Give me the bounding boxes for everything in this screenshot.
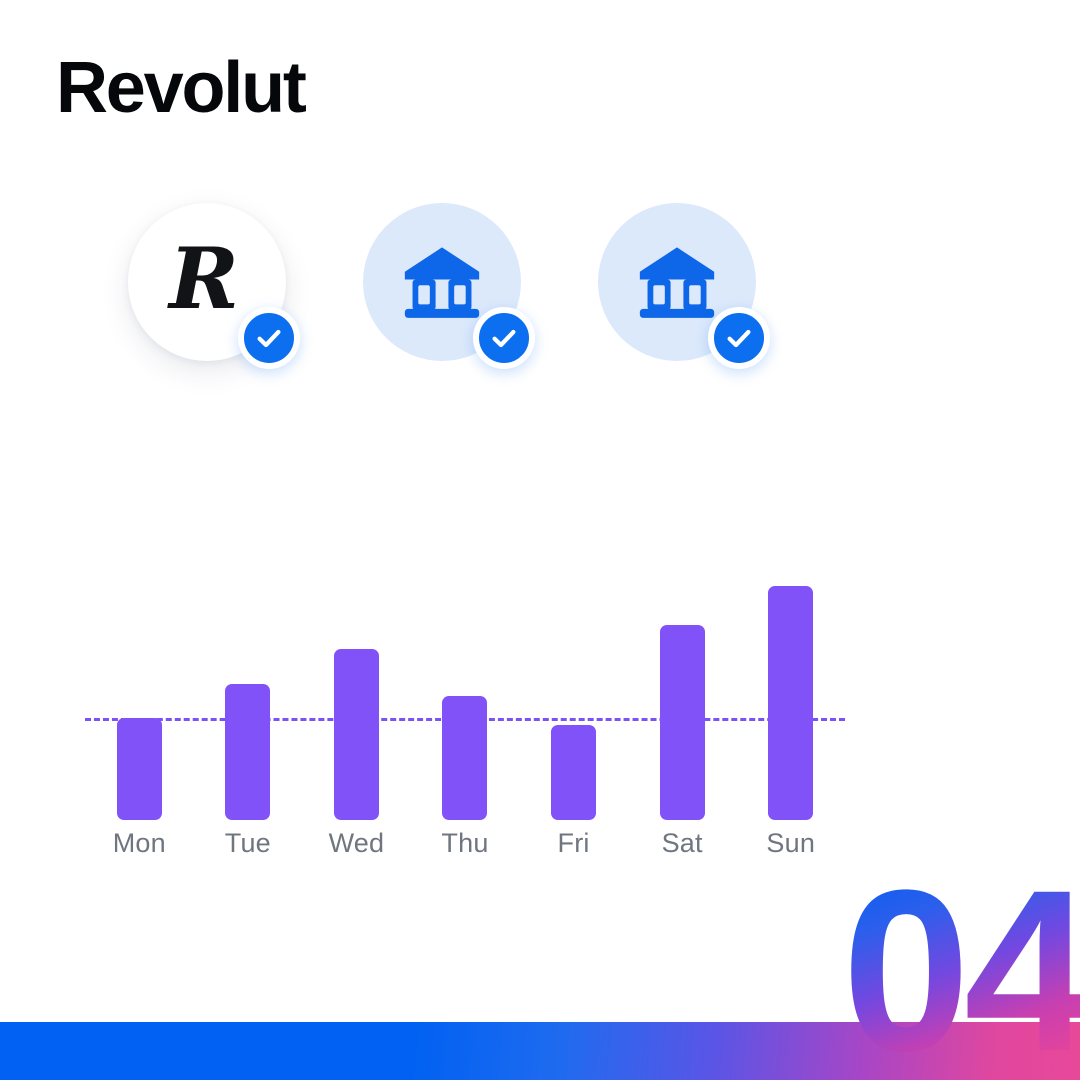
brand-wordmark: Revolut	[56, 52, 305, 124]
chart-bar-slot	[194, 552, 303, 820]
chart-x-label: Sat	[628, 828, 737, 859]
chart-bar[interactable]	[334, 649, 379, 820]
verified-badge	[238, 307, 300, 369]
verified-accounts-group: R	[128, 203, 828, 403]
promo-canvas: Revolut R	[0, 0, 1080, 1080]
bank-icon	[401, 241, 483, 323]
chart-bar[interactable]	[768, 586, 813, 820]
chart-bar[interactable]	[225, 684, 270, 820]
revolut-r-icon: R	[169, 237, 239, 321]
weekly-spending-chart: MonTueWedThuFriSatSun	[85, 552, 845, 882]
check-icon	[724, 323, 754, 353]
check-icon	[254, 323, 284, 353]
check-icon	[489, 323, 519, 353]
chart-bar[interactable]	[551, 725, 596, 820]
chart-bar[interactable]	[660, 625, 705, 820]
verified-badge	[473, 307, 535, 369]
chart-plot-area	[85, 552, 845, 820]
chart-x-label: Thu	[411, 828, 520, 859]
chart-bar-slot	[519, 552, 628, 820]
chart-bar-slot	[736, 552, 845, 820]
verified-badge	[708, 307, 770, 369]
chart-x-label: Fri	[519, 828, 628, 859]
chart-x-label: Mon	[85, 828, 194, 859]
chart-bar-slot	[85, 552, 194, 820]
step-number: 04	[842, 877, 1080, 1066]
chart-bar[interactable]	[442, 696, 487, 820]
chart-bar-slot	[628, 552, 737, 820]
chart-bar-slot	[302, 552, 411, 820]
chart-x-axis-labels: MonTueWedThuFriSatSun	[85, 828, 845, 859]
account-item-revolut[interactable]: R	[128, 203, 286, 361]
chart-bar-slot	[411, 552, 520, 820]
account-item-bank-2[interactable]	[598, 203, 756, 361]
chart-x-label: Sun	[736, 828, 845, 859]
chart-bar[interactable]	[117, 718, 162, 820]
bank-icon	[636, 241, 718, 323]
account-item-bank-1[interactable]	[363, 203, 521, 361]
chart-bars	[85, 552, 845, 820]
chart-x-label: Tue	[194, 828, 303, 859]
chart-x-label: Wed	[302, 828, 411, 859]
